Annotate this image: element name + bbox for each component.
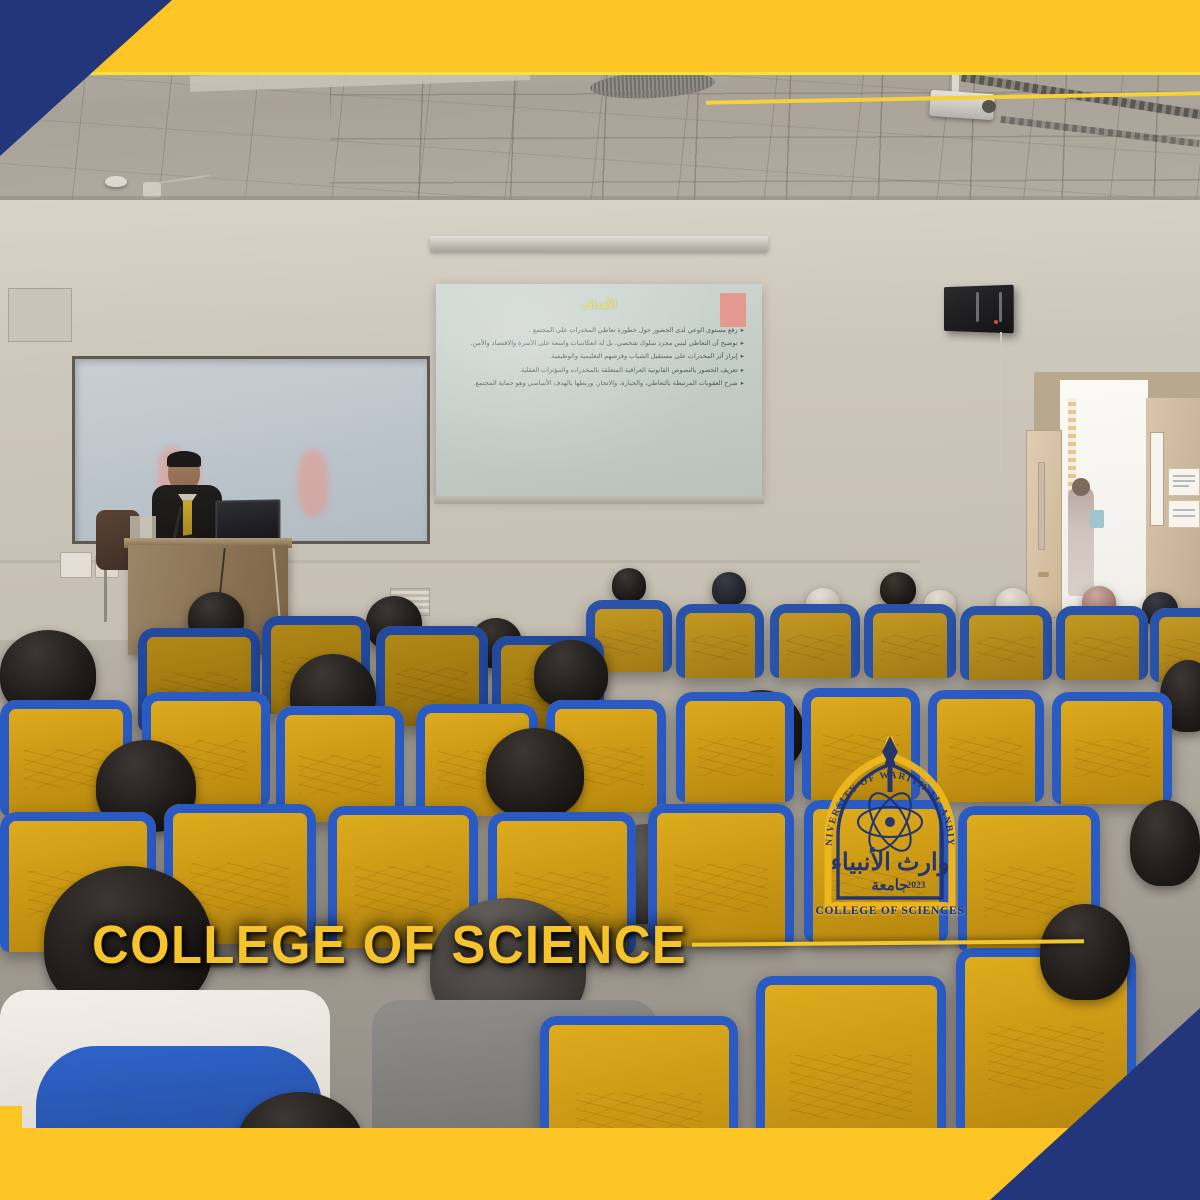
- audience-head: [486, 728, 584, 818]
- presenter-tie: [183, 500, 192, 538]
- university-logo: UNIVERSITY OF WARITH AL-ANBIYA وارث الأن…: [812, 736, 968, 922]
- audience-head: [612, 568, 646, 602]
- wall-notice-sign: [1168, 500, 1200, 528]
- wall-seam-upper: [0, 196, 1200, 200]
- top-left-navy-corner: [0, 0, 172, 156]
- svg-text:2023: 2023: [907, 881, 926, 891]
- overlay-title: COLLEGE OF SCIENCE: [92, 914, 687, 976]
- speaker-power-led-icon: [994, 320, 998, 324]
- door-right-vision-panel: [1150, 432, 1164, 526]
- top-yellow-band: [0, 0, 1200, 72]
- security-camera-icon: [105, 176, 127, 187]
- projection-screen-weight-bar: [434, 496, 764, 504]
- audience-head: [1130, 800, 1200, 886]
- logo-caption: COLLEGE OF SCIENCES: [812, 905, 968, 917]
- speaker-grille-bar: [999, 292, 1002, 322]
- presenter-hair: [167, 451, 201, 467]
- auditorium-seat: [676, 692, 794, 802]
- projection-screen-housing: [430, 236, 768, 252]
- wall-notice-sign: [1168, 468, 1200, 496]
- poster-canvas: الأهداف رفع مستوى الوعي لدى الحضور حول خ…: [0, 0, 1200, 1200]
- auditorium-seat: [960, 606, 1052, 680]
- auditorium-seat: [676, 604, 764, 678]
- audience-head: [880, 572, 916, 606]
- person-bag: [1090, 510, 1104, 528]
- svg-text:وارث الأنبياء: وارث الأنبياء: [831, 845, 950, 877]
- person-in-corridor: [1068, 486, 1094, 596]
- auditorium-seat: [1052, 692, 1172, 804]
- screen-glare: [436, 284, 762, 498]
- auditorium-seat: [1056, 606, 1148, 680]
- speaker-cable: [1000, 332, 1002, 472]
- projection-screen: الأهداف رفع مستوى الوعي لدى الحضور حول خ…: [436, 284, 762, 498]
- speaker-grille-bar: [976, 292, 979, 322]
- auditorium-seat: [864, 604, 956, 678]
- wall-socket: [60, 552, 92, 578]
- audience-head: [534, 640, 608, 708]
- audience-head: [1040, 904, 1130, 1000]
- svg-text:جامعة: جامعة: [871, 878, 908, 894]
- person-head: [1072, 478, 1090, 496]
- door-handle-icon: [1038, 572, 1049, 577]
- bottom-right-navy-corner: [990, 1008, 1200, 1200]
- whiteboard-marker-smudge: [298, 450, 328, 516]
- podium-shelf-item: [130, 516, 156, 540]
- door-vision-panel: [1038, 462, 1045, 550]
- top-accent-line: [0, 72, 1200, 75]
- wall-panel: [8, 288, 72, 342]
- auditorium-seat: [770, 604, 860, 678]
- audience-head: [712, 572, 746, 606]
